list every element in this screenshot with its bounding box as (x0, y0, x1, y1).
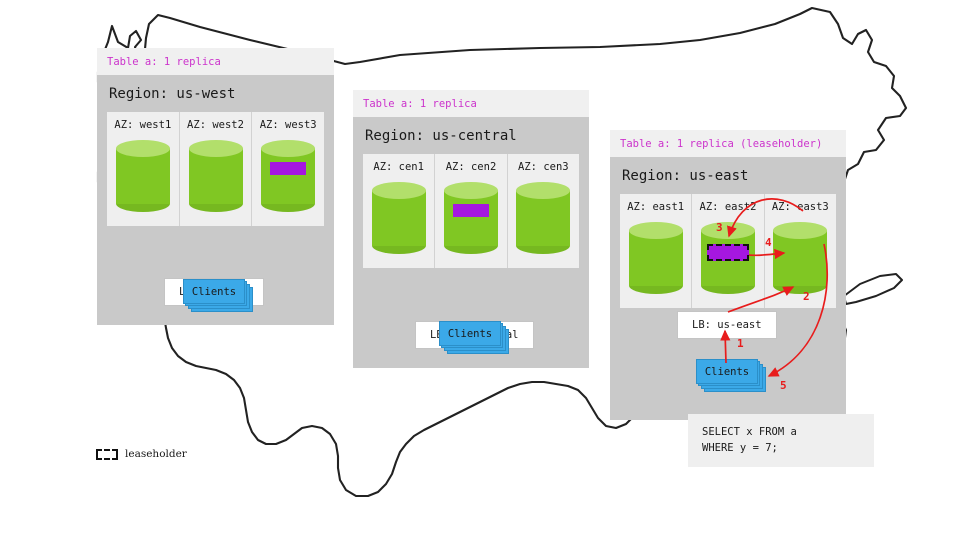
cylinder-top (261, 140, 315, 157)
az-label-east3: AZ: east3 (765, 201, 836, 213)
cylinder-top (701, 222, 755, 239)
az-row-us-central: AZ: cen1 AZ: cen2 (363, 154, 579, 268)
cylinder-top (372, 182, 426, 199)
load-balancer-us-east[interactable]: LB: us-east (677, 311, 777, 339)
clients-box-us-east[interactable]: Clients (696, 359, 758, 384)
cylinder-top (773, 222, 827, 239)
az-row-us-west: AZ: west1 AZ: west2 AZ (107, 112, 324, 226)
clients-box-us-central[interactable]: Clients (439, 321, 501, 346)
az-cell-west3[interactable]: AZ: west3 (252, 112, 324, 226)
flow-step-5: 5 (780, 379, 787, 392)
az-cell-east1[interactable]: AZ: east1 (620, 194, 692, 308)
node-cylinder-west2[interactable] (189, 140, 243, 212)
dashed-rectangle-icon (96, 449, 118, 460)
region-panel-us-east: Table a: 1 replica (leaseholder) Region:… (610, 130, 846, 420)
node-cylinder-west1[interactable] (116, 140, 170, 212)
clients-box-us-west[interactable]: Clients (183, 279, 245, 304)
panel-header-us-west: Table a: 1 replica (97, 48, 334, 75)
legend-label: leaseholder (125, 448, 187, 460)
az-cell-cen1[interactable]: AZ: cen1 (363, 154, 435, 268)
az-cell-cen3[interactable]: AZ: cen3 (508, 154, 579, 268)
flow-step-2: 2 (803, 290, 810, 303)
node-cylinder-cen1[interactable] (372, 182, 426, 254)
node-cylinder-east3[interactable] (773, 222, 827, 294)
az-label-west1: AZ: west1 (107, 119, 179, 131)
node-cylinder-cen2[interactable] (444, 182, 498, 254)
flow-step-3: 3 (716, 221, 723, 234)
az-cell-west2[interactable]: AZ: west2 (180, 112, 253, 226)
node-cylinder-cen3[interactable] (516, 182, 570, 254)
clients-label: Clients (439, 321, 501, 346)
az-label-west3: AZ: west3 (252, 119, 324, 131)
region-title-us-central: Region: us-central (363, 117, 579, 154)
az-label-cen1: AZ: cen1 (363, 161, 434, 173)
cylinder-top (629, 222, 683, 239)
panel-header-us-central: Table a: 1 replica (353, 90, 589, 117)
az-cell-east2[interactable]: AZ: east2 (692, 194, 764, 308)
clients-label: Clients (696, 359, 758, 384)
az-label-cen3: AZ: cen3 (508, 161, 579, 173)
region-title-us-east: Region: us-east (620, 157, 836, 194)
az-cell-west1[interactable]: AZ: west1 (107, 112, 180, 226)
node-cylinder-west3[interactable] (261, 140, 315, 212)
replica-marker-west3 (270, 162, 306, 175)
region-title-us-west: Region: us-west (107, 75, 324, 112)
az-label-cen2: AZ: cen2 (435, 161, 506, 173)
cylinder-top (189, 140, 243, 157)
az-label-west2: AZ: west2 (180, 119, 252, 131)
replica-marker-cen2 (453, 204, 489, 217)
az-cell-cen2[interactable]: AZ: cen2 (435, 154, 507, 268)
cylinder-top (516, 182, 570, 199)
az-label-east2: AZ: east2 (692, 201, 763, 213)
diagram-canvas: Table a: 1 replica Region: us-west AZ: w… (0, 0, 960, 540)
cylinder-top (444, 182, 498, 199)
node-cylinder-east2[interactable] (701, 222, 755, 294)
flow-step-1: 1 (737, 337, 744, 350)
panel-header-us-east: Table a: 1 replica (leaseholder) (610, 130, 846, 157)
az-cell-east3[interactable]: AZ: east3 (765, 194, 836, 308)
region-panel-us-central: Table a: 1 replica Region: us-central AZ… (353, 90, 589, 368)
az-label-east1: AZ: east1 (620, 201, 691, 213)
flow-step-4: 4 (765, 236, 772, 249)
region-panel-us-west: Table a: 1 replica Region: us-west AZ: w… (97, 48, 334, 325)
cylinder-top (116, 140, 170, 157)
replica-marker-east2-leaseholder (707, 244, 749, 261)
clients-label: Clients (183, 279, 245, 304)
sql-query-box: SELECT x FROM a WHERE y = 7; (688, 414, 874, 467)
node-cylinder-east1[interactable] (629, 222, 683, 294)
legend: leaseholder (96, 448, 187, 460)
